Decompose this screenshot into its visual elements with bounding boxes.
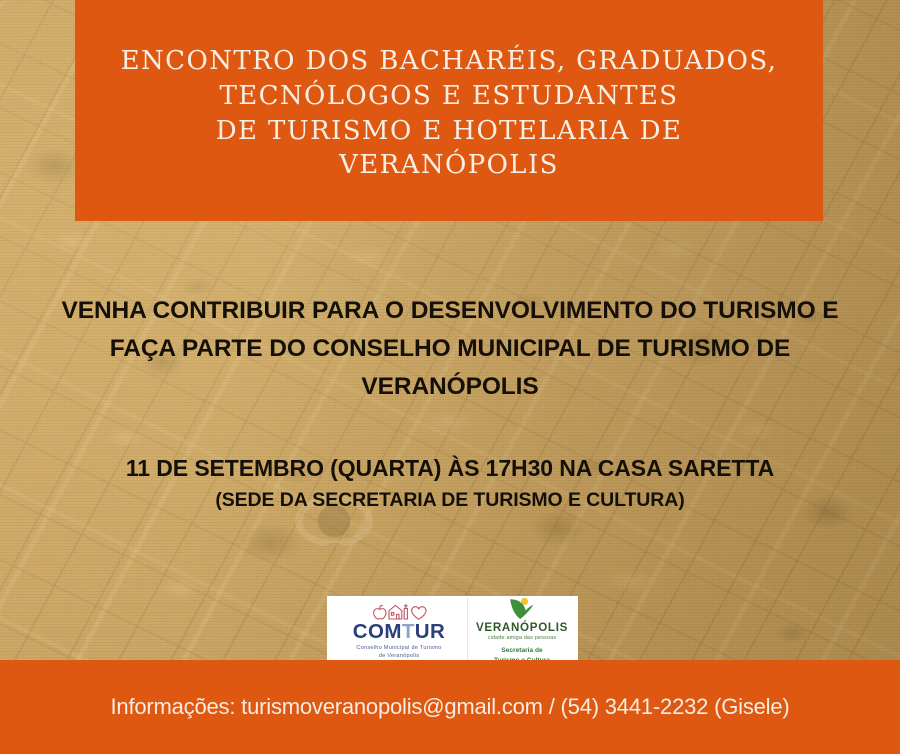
page-title: ENCONTRO DOS BACHARÉIS, GRADUADOS, TECNÓ… bbox=[121, 44, 778, 183]
veranopolis-tagline: cidade amiga das pessoas bbox=[470, 635, 574, 641]
contact-info: Informações: turismoveranopolis@gmail.co… bbox=[111, 694, 790, 720]
logo-strip: COMTUR Conselho Municipal de Turismo de … bbox=[327, 596, 578, 666]
veranopolis-logo: VERANÓPOLIS cidade amiga das pessoas Sec… bbox=[467, 597, 574, 666]
apple-house-heart-icon bbox=[370, 601, 428, 621]
comtur-word-t: T bbox=[402, 620, 415, 643]
event-poster: ENCONTRO DOS BACHARÉIS, GRADUADOS, TECNÓ… bbox=[0, 0, 900, 754]
call-to-action-text: VENHA CONTRIBUIR PARA O DESENVOLVIMENTO … bbox=[0, 292, 900, 406]
comtur-word-ur: UR bbox=[415, 620, 445, 643]
veranopolis-v-sun-icon bbox=[507, 597, 537, 621]
veranopolis-wordmark: VERANÓPOLIS bbox=[470, 622, 574, 634]
event-datetime-venue: 11 DE SETEMBRO (QUARTA) ÀS 17H30 NA CASA… bbox=[0, 455, 900, 482]
comtur-wordmark: COMTUR bbox=[353, 622, 445, 643]
comtur-logo: COMTUR Conselho Municipal de Turismo de … bbox=[327, 601, 467, 660]
footer-banner: Informações: turismoveranopolis@gmail.co… bbox=[0, 660, 900, 754]
comtur-subtitle: Conselho Municipal de Turismo de Veranóp… bbox=[331, 645, 467, 660]
comtur-word-com: COM bbox=[353, 620, 402, 643]
header-banner: ENCONTRO DOS BACHARÉIS, GRADUADOS, TECNÓ… bbox=[75, 0, 823, 221]
event-venue-detail: (SEDE DA SECRETARIA DE TURISMO E CULTURA… bbox=[0, 489, 900, 512]
